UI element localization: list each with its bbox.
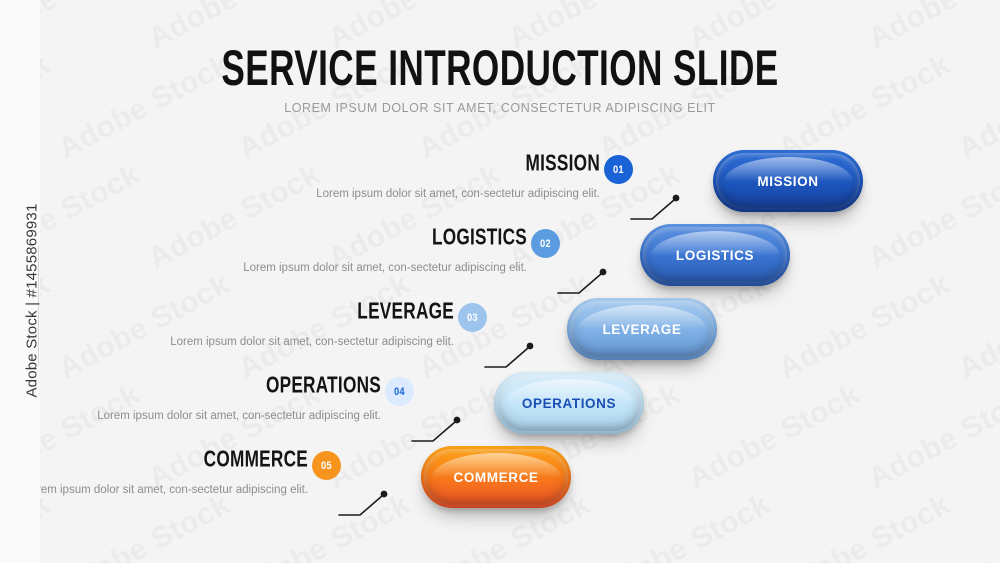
pill-label: LOGISTICS — [676, 248, 754, 263]
step-description: Lorem ipsum dolor sit amet, con-sectetur… — [154, 334, 454, 351]
step-description: Lorem ipsum dolor sit amet, con-sectetur… — [81, 408, 381, 425]
pill-label: COMMERCE — [453, 470, 538, 485]
step-description: Lorem ipsum dolor sit amet, con-sectetur… — [300, 186, 600, 203]
step-pill-button[interactable]: OPERATIONS — [494, 372, 644, 434]
step-number-label: 03 — [467, 312, 478, 324]
step-text-block: COMMERCELorem ipsum dolor sit amet, con-… — [8, 449, 308, 499]
step-title: OPERATIONS — [135, 374, 381, 397]
step-title: LEVERAGE — [208, 300, 454, 323]
pill-label: MISSION — [757, 174, 818, 189]
pill-label: OPERATIONS — [522, 396, 616, 411]
step-number-label: 02 — [540, 238, 551, 250]
step-pill-button[interactable]: MISSION — [713, 150, 863, 212]
stock-watermark-rail: Adobe Stock | #1455869931 — [0, 0, 40, 563]
step-pill-button[interactable]: LOGISTICS — [640, 224, 790, 286]
step-number-label: 05 — [321, 460, 332, 472]
step-pill-button[interactable]: LEVERAGE — [567, 298, 717, 360]
step-title: LOGISTICS — [281, 226, 527, 249]
stock-id-label: Adobe Stock | #1455869931 — [24, 151, 41, 451]
slide-header: SERVICE INTRODUCTION SLIDE LOREM IPSUM D… — [0, 0, 1000, 115]
step-number-badge[interactable]: 04 — [385, 377, 414, 406]
step-pill-button[interactable]: COMMERCE — [421, 446, 571, 508]
step-number-label: 04 — [394, 386, 405, 398]
page-subtitle: LOREM IPSUM DOLOR SIT AMET, CONSECTETUR … — [0, 101, 1000, 115]
step-number-badge[interactable]: 01 — [604, 155, 633, 184]
page-title: SERVICE INTRODUCTION SLIDE — [100, 44, 900, 94]
step-number-label: 01 — [613, 164, 624, 176]
step-number-badge[interactable]: 03 — [458, 303, 487, 332]
step-text-block: LEVERAGELorem ipsum dolor sit amet, con-… — [154, 301, 454, 351]
step-description: Lorem ipsum dolor sit amet, con-sectetur… — [227, 260, 527, 277]
step-text-block: OPERATIONSLorem ipsum dolor sit amet, co… — [81, 375, 381, 425]
step-number-badge[interactable]: 02 — [531, 229, 560, 258]
pill-label: LEVERAGE — [602, 322, 681, 337]
step-title: MISSION — [354, 152, 600, 175]
step-title: COMMERCE — [62, 448, 308, 471]
step-number-badge[interactable]: 05 — [312, 451, 341, 480]
step-description: Lorem ipsum dolor sit amet, con-sectetur… — [8, 482, 308, 499]
step-text-block: MISSIONLorem ipsum dolor sit amet, con-s… — [300, 153, 600, 203]
connector-line — [338, 488, 394, 525]
step-text-block: LOGISTICSLorem ipsum dolor sit amet, con… — [227, 227, 527, 277]
